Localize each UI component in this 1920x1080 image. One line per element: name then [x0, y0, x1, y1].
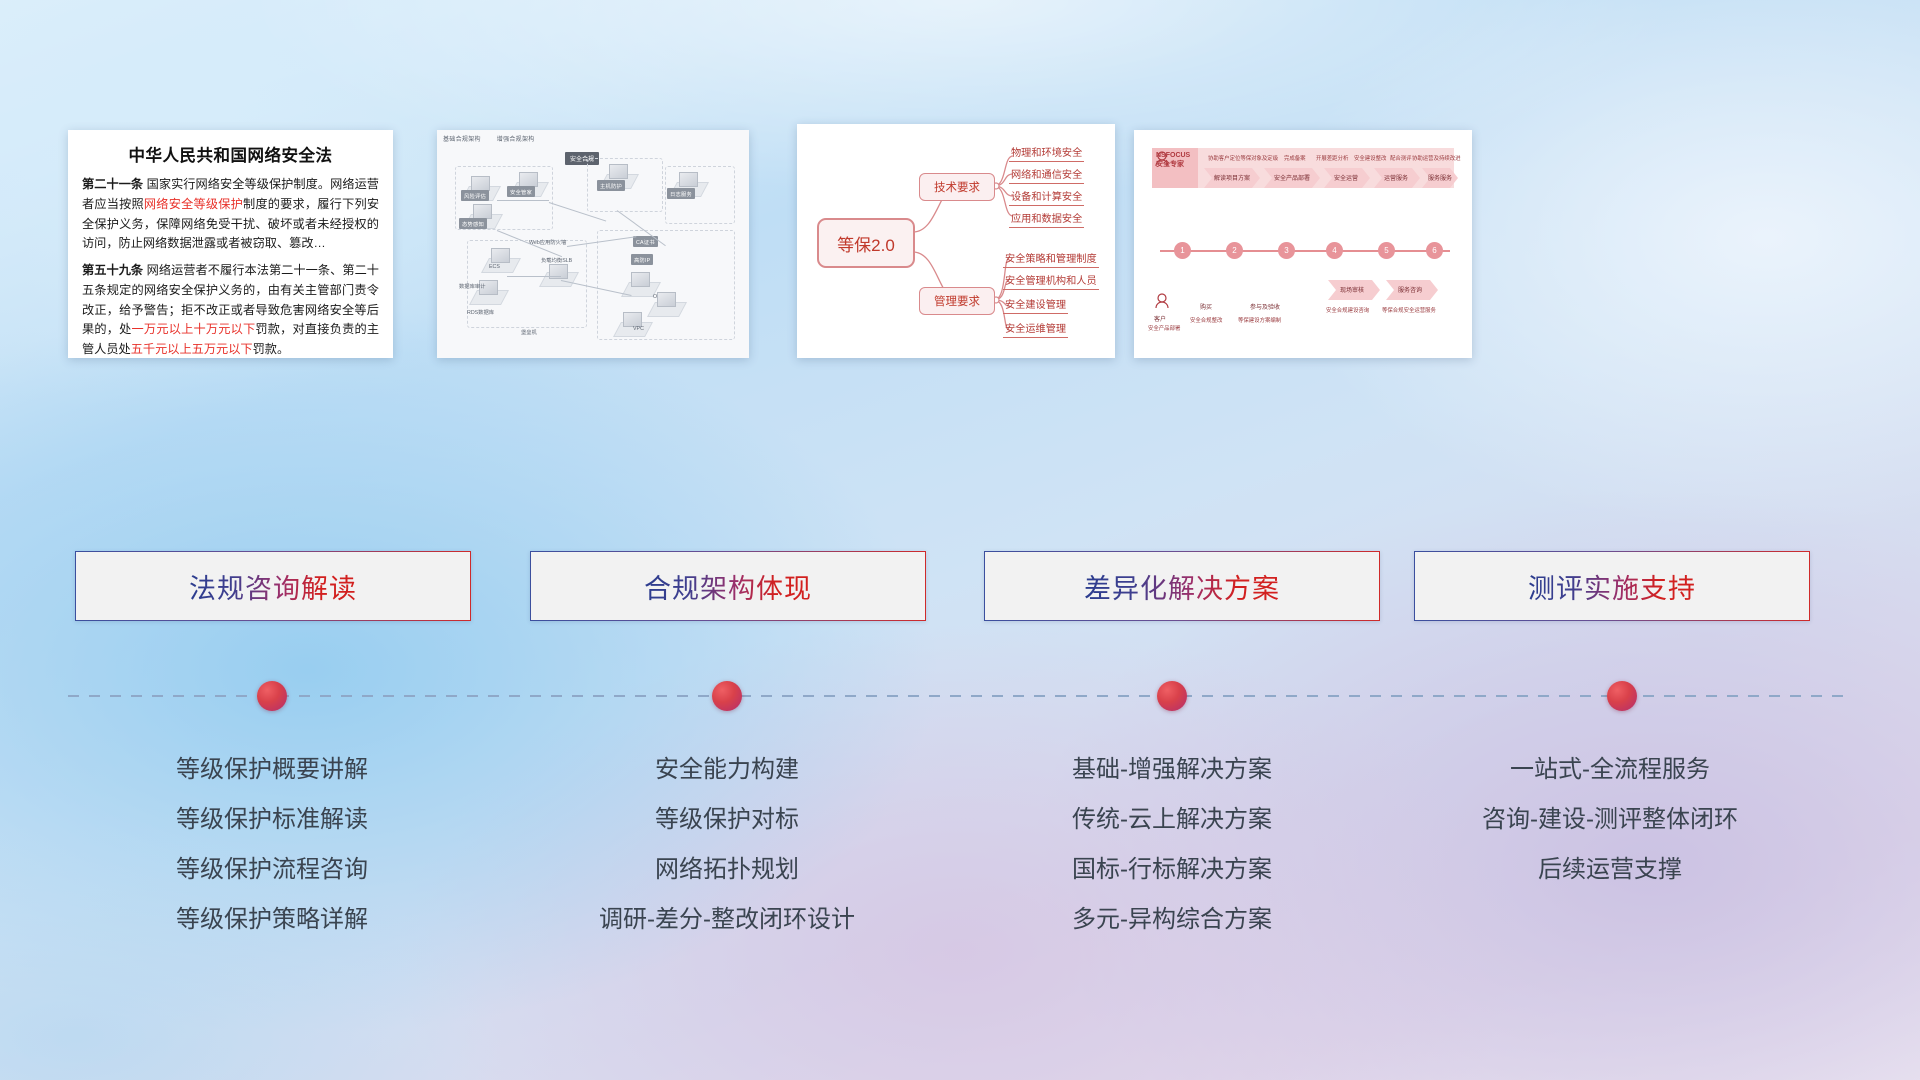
pill-label-3: 测评实施支持 [1528, 567, 1696, 606]
pill-assessment-support[interactable]: 测评实施支持 [1414, 551, 1810, 621]
list-item: 等级保护对标 [517, 795, 937, 845]
timeline-knob-2[interactable] [1157, 681, 1187, 711]
mindmap: 等保2.0 技术要求 管理要求 物理和环境安全 网络和通信安全 设备和计算安全 … [797, 124, 1115, 358]
law-article-21: 第二十一条 国家实行网络安全等级保护制度。网络运营者应当按照网络安全等级保护制度… [82, 175, 379, 254]
pill-label-1: 合规架构体现 [644, 567, 812, 606]
list-item: 传统-云上解决方案 [962, 795, 1382, 845]
card-cybersecurity-law: 中华人民共和国网络安全法 第二十一条 国家实行网络安全等级保护制度。网络运营者应… [68, 130, 393, 358]
pill-label-0: 法规咨询解读 [189, 567, 357, 606]
mindmap-leaf-tech-3: 应用和数据安全 [1009, 210, 1084, 228]
architecture-node-11: RDS数据库 [467, 308, 494, 316]
timeline-dashed-line [68, 695, 1852, 697]
pill-regulation-consulting[interactable]: 法规咨询解读 [75, 551, 471, 621]
article-59-highlight-a: 一万元以上十万元以下 [132, 322, 256, 336]
roadmap-bottom-item-2-title: 现场审核 [1340, 285, 1364, 294]
list-item: 等级保护标准解读 [62, 795, 482, 845]
mindmap-leaf-mgmt-2: 安全建设管理 [1003, 296, 1068, 314]
law-article-59: 第五十九条 网络运营者不履行本法第二十一条、第二十五条规定的网络安全保护义务的，… [82, 261, 379, 358]
article-21-highlight: 网络安全等级保护 [144, 197, 243, 211]
roadmap-role-sub: 安全产品部署 [1148, 324, 1180, 332]
article-59-highlight-b: 五千元以上五万元以下 [131, 342, 253, 356]
article-21-label: 第二十一条 [82, 177, 143, 191]
mindmap-root: 等保2.0 [817, 218, 915, 268]
list-item: 调研-差分-整改闭环设计 [517, 895, 937, 945]
roadmap-bottom-item-3-title: 服务咨询 [1398, 285, 1422, 294]
roadmap-bottom-item-0-sub: 安全合规整改 [1190, 316, 1222, 324]
roadmap-role-label: 客户 [1154, 314, 1166, 323]
list-item: 国标-行标解决方案 [962, 845, 1382, 895]
mindmap-branch-technical: 技术要求 [919, 173, 995, 201]
roadmap-bottom-item-2-sub: 安全合规建设咨询 [1326, 306, 1369, 314]
roadmap-diagram: NSFOCUS 安全专家 协助客户定位等保对象及定级 完成备案 开展差距分析 安… [1134, 130, 1472, 358]
pill-label-2: 差异化解决方案 [1084, 567, 1280, 606]
article-59-text-c: 罚款。 [253, 342, 290, 356]
architecture-node-3: 主机防护 [597, 180, 625, 191]
architecture-header: 基础合规架构 增强合规架构 [443, 134, 549, 143]
architecture-node-10: 数据库审计 [459, 282, 486, 290]
list-item: 一站式-全流程服务 [1400, 745, 1820, 795]
list-item: 等级保护概要讲解 [62, 745, 482, 795]
roadmap-person-icon [1134, 130, 1472, 358]
architecture-node-13: VPC [633, 326, 644, 332]
architecture-node-1: 安全管家 [507, 186, 535, 197]
column-list-2: 基础-增强解决方案 传统-云上解决方案 国标-行标解决方案 多元-异构综合方案 [962, 745, 1382, 945]
mindmap-leaf-mgmt-1: 安全管理机构和人员 [1003, 272, 1099, 290]
pill-compliance-architecture[interactable]: 合规架构体现 [530, 551, 926, 621]
article-59-label: 第五十九条 [82, 263, 143, 277]
roadmap-bottom-item-1-sub: 等保建设方案编制 [1238, 316, 1281, 324]
law-title: 中华人民共和国网络安全法 [82, 142, 379, 166]
mindmap-leaf-mgmt-0: 安全策略和管理制度 [1003, 250, 1099, 268]
architecture-node-7: 高防IP [631, 254, 653, 265]
list-item: 咨询-建设-测评整体闭环 [1400, 795, 1820, 845]
mindmap-branch-management: 管理要求 [919, 287, 995, 315]
list-item: 等级保护流程咨询 [62, 845, 482, 895]
pill-differentiated-solution[interactable]: 差异化解决方案 [984, 551, 1380, 621]
timeline-knob-1[interactable] [712, 681, 742, 711]
mindmap-leaf-tech-0: 物理和环境安全 [1009, 144, 1084, 162]
list-item: 基础-增强解决方案 [962, 745, 1382, 795]
architecture-header-left: 基础合规架构 [443, 137, 481, 143]
architecture-node-2: 态势感知 [459, 218, 487, 229]
card-dengbao-mindmap: 等保2.0 技术要求 管理要求 物理和环境安全 网络和通信安全 设备和计算安全 … [797, 124, 1115, 358]
mindmap-leaf-mgmt-3: 安全运维管理 [1003, 320, 1068, 338]
architecture-diagram: 基础合规架构 增强合规架构 安全合规 风险评估 安全管家 态势感知 主机防护 日… [437, 130, 749, 358]
architecture-node-4: 日志服务 [667, 188, 695, 199]
mindmap-leaf-tech-1: 网络和通信安全 [1009, 166, 1084, 184]
timeline-knob-3[interactable] [1607, 681, 1637, 711]
roadmap-bottom-item-0-title: 购买 [1200, 302, 1212, 311]
card-compliance-architecture: 基础合规架构 增强合规架构 安全合规 风险评估 安全管家 态势感知 主机防护 日… [437, 130, 749, 358]
card-nsfocus-roadmap: NSFOCUS 安全专家 协助客户定位等保对象及定级 完成备案 开展差距分析 安… [1134, 130, 1472, 358]
architecture-node-8: ECS [489, 264, 500, 270]
timeline-knob-0[interactable] [257, 681, 287, 711]
column-list-0: 等级保护概要讲解 等级保护标准解读 等级保护流程咨询 等级保护策略详解 [62, 745, 482, 945]
mindmap-leaf-tech-2: 设备和计算安全 [1009, 188, 1084, 206]
roadmap-bottom-item-3-sub: 等保合规安全运营服务 [1382, 306, 1436, 314]
list-item: 多元-异构综合方案 [962, 895, 1382, 945]
list-item: 等级保护策略详解 [62, 895, 482, 945]
list-item: 网络拓扑规划 [517, 845, 937, 895]
architecture-node-9: 负载均衡SLB [541, 256, 572, 264]
list-item: 安全能力构建 [517, 745, 937, 795]
column-list-1: 安全能力构建 等级保护对标 网络拓扑规划 调研-差分-整改闭环设计 [517, 745, 937, 945]
architecture-node-14: 堡垒机 [521, 328, 537, 336]
roadmap-bottom-item-1-title: 参与及验收 [1250, 302, 1280, 311]
column-list-3: 一站式-全流程服务 咨询-建设-测评整体闭环 后续运营支撑 [1400, 745, 1820, 895]
list-item: 后续运营支撑 [1400, 845, 1820, 895]
architecture-header-right: 增强合规架构 [497, 137, 535, 143]
architecture-node-0: 风险评估 [461, 190, 489, 201]
